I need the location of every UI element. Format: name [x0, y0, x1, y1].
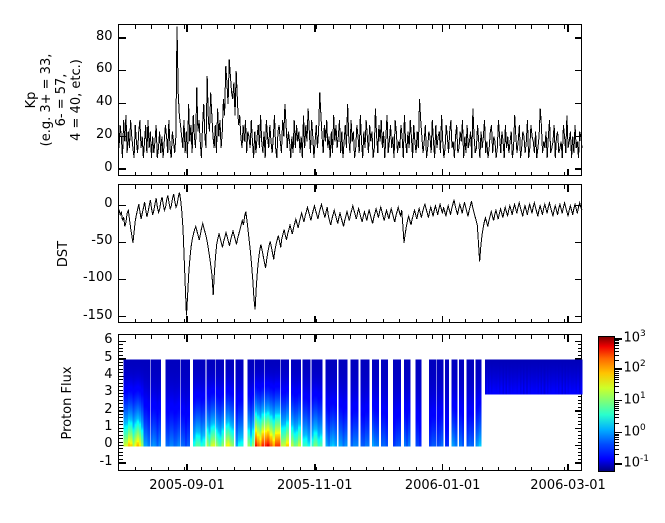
kp-axis-label: 6- = 57, — [54, 15, 69, 185]
xtick-label: 2006-03-01 — [520, 478, 616, 493]
colorbar-minor-tick — [615, 437, 619, 438]
ytick-label-dst: -150 — [83, 308, 113, 323]
colorbar-minor-tick — [615, 442, 619, 443]
colorbar-minor-tick — [615, 392, 619, 393]
colorbar-tick-label: 102 — [624, 359, 646, 375]
ytick-label-flux: 3 — [104, 384, 112, 399]
ytick-label-kp: 20 — [96, 127, 113, 142]
trace-kp — [119, 25, 582, 176]
colorbar-minor-tick — [615, 454, 619, 455]
ytick-label-kp: 0 — [104, 160, 112, 175]
colorbar-minor-tick — [615, 382, 619, 383]
colorbar-minor-tick — [615, 445, 619, 446]
colorbar-tick-label: 101 — [624, 391, 646, 407]
colorbar-minor-tick — [615, 414, 619, 415]
colorbar-tick-label: 100 — [624, 423, 646, 439]
colorbar-minor-tick — [615, 406, 619, 407]
figure-canvas: 0204060800-50-100-150-101234562005-09-01… — [0, 0, 665, 523]
ytick-label-flux: 1 — [104, 419, 112, 434]
colorbar-minor-tick — [615, 375, 619, 376]
colorbar-minor-tick — [615, 402, 619, 403]
colorbar-minor-tick — [615, 404, 619, 405]
colorbar-minor-tick — [615, 408, 619, 409]
colorbar-tick — [615, 463, 622, 464]
ytick-label-dst: 0 — [104, 196, 112, 211]
colorbar-minor-tick — [615, 449, 619, 450]
colorbar-minor-tick — [615, 423, 619, 424]
colorbar-minor-tick — [615, 343, 619, 344]
ytick-label-dst: -100 — [83, 270, 113, 285]
colorbar-minor-tick — [615, 351, 619, 352]
colorbar-minor-tick — [615, 417, 619, 418]
kp-axis-label: Kp — [24, 15, 39, 185]
colorbar-minor-tick — [615, 379, 619, 380]
colorbar-minor-tick — [615, 410, 619, 411]
colorbar-minor-tick — [615, 373, 619, 374]
colorbar-minor-tick — [615, 434, 619, 435]
colorbar-minor-tick — [615, 340, 619, 341]
ytick-label-kp: 80 — [96, 29, 113, 44]
colorbar-tick-label: 10-1 — [624, 454, 650, 470]
colorbar — [598, 336, 615, 472]
colorbar-gradient — [599, 337, 614, 471]
colorbar-minor-tick — [615, 386, 619, 387]
colorbar-minor-tick — [615, 435, 619, 436]
xtick-label: 2005-11-01 — [267, 478, 363, 493]
dst-axis-label: DST — [56, 169, 71, 339]
colorbar-tick-label: 103 — [624, 329, 646, 345]
colorbar-minor-tick — [615, 345, 619, 346]
colorbar-minor-tick — [615, 377, 619, 378]
colorbar-minor-tick — [615, 371, 619, 372]
colorbar-minor-tick — [615, 439, 619, 440]
ytick-label-flux: -1 — [100, 454, 113, 469]
xtick-label: 2006-01-01 — [395, 478, 491, 493]
xtick-label: 2005-09-01 — [139, 478, 235, 493]
colorbar-tick — [615, 368, 622, 369]
colorbar-tick — [615, 400, 622, 401]
ytick-label-flux: 4 — [104, 367, 112, 382]
ytick-label-kp: 60 — [96, 61, 113, 76]
colorbar-minor-tick — [615, 342, 619, 343]
kp-axis-label: (e.g. 3+ = 33, — [39, 15, 54, 185]
trace-dst — [119, 185, 582, 323]
ytick-label-dst: -50 — [91, 233, 112, 248]
flux-axis-label: Proton Flux — [60, 318, 75, 488]
ytick-label-flux: 0 — [104, 436, 112, 451]
kp-axis-label: 4 = 40, etc.) — [69, 15, 84, 185]
proton-flux-heatmap — [119, 335, 582, 471]
colorbar-minor-tick — [615, 360, 619, 361]
colorbar-minor-tick — [615, 355, 619, 356]
colorbar-minor-tick — [615, 348, 619, 349]
ytick-label-kp: 40 — [96, 94, 113, 109]
ytick-label-flux: 5 — [104, 350, 112, 365]
ytick-label-flux: 6 — [104, 332, 112, 347]
ytick-label-flux: 2 — [104, 402, 112, 417]
